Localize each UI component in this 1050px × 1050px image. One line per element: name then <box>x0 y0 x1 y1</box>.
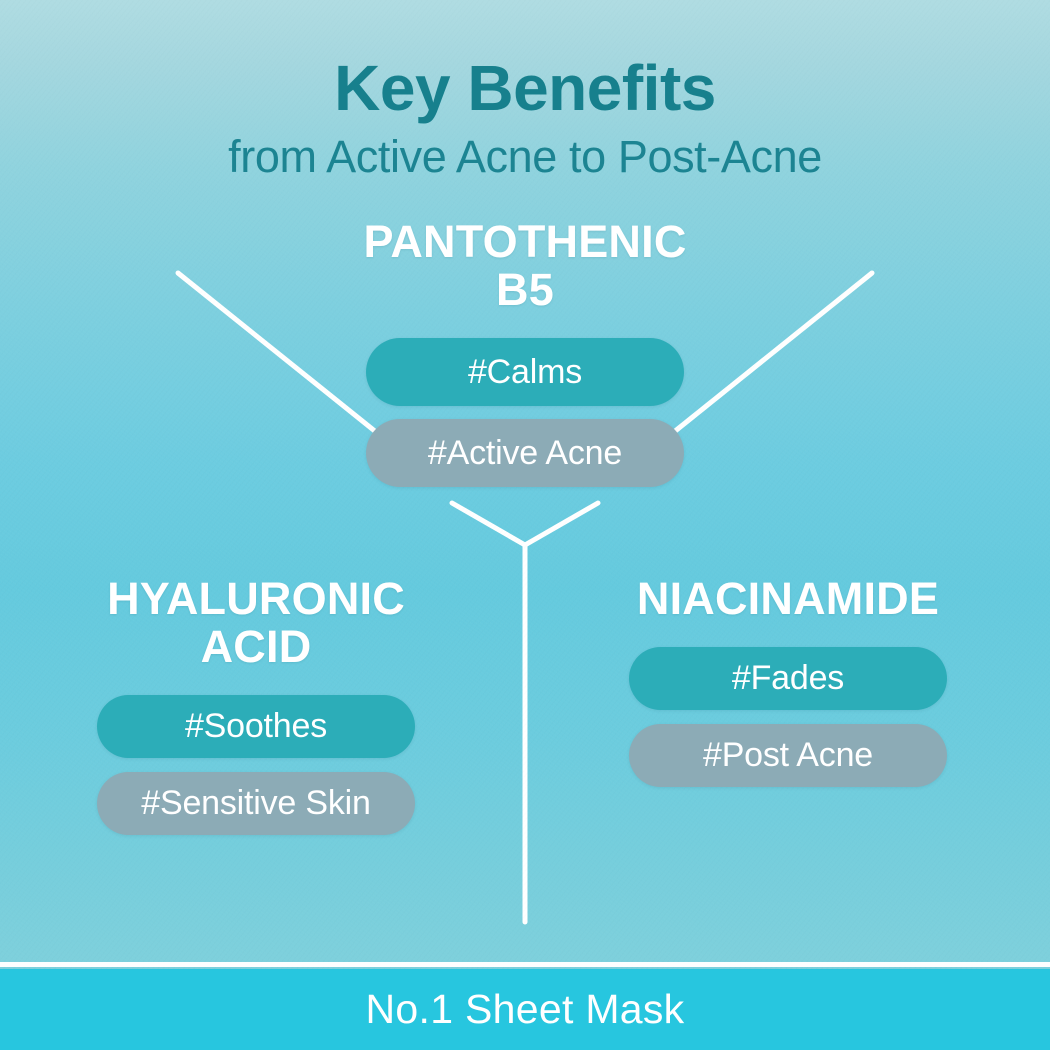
ingredient-group-hyaluronic-acid: HYALURONIC ACID #Soothes #Sensitive Skin <box>56 575 456 835</box>
ingredient-title-line1: NIACINAMIDE <box>637 573 939 624</box>
poster-canvas: Key Benefits from Active Acne to Post-Ac… <box>0 0 1050 1050</box>
benefit-pill-calms[interactable]: #Calms <box>366 338 684 406</box>
ingredient-title-line1: PANTOTHENIC <box>363 216 686 267</box>
ingredient-title-line1: HYALURONIC <box>107 573 405 624</box>
ingredient-title-line2: B5 <box>496 264 554 315</box>
benefit-pill-soothes[interactable]: #Soothes <box>97 695 415 758</box>
benefit-pill-fades[interactable]: #Fades <box>629 647 947 710</box>
pill-stack-pantothenic-b5: #Calms #Active Acne <box>275 338 775 487</box>
ingredient-group-niacinamide: NIACINAMIDE #Fades #Post Acne <box>588 575 988 787</box>
ingredient-title-hyaluronic-acid: HYALURONIC ACID <box>56 575 456 671</box>
pill-stack-hyaluronic-acid: #Soothes #Sensitive Skin <box>56 695 456 835</box>
ingredient-title-line2: ACID <box>201 621 312 672</box>
banner-label: No.1 Sheet Mask <box>366 986 685 1033</box>
page-subtitle: from Active Acne to Post-Acne <box>0 133 1050 180</box>
connector-line-fork-right <box>525 503 598 545</box>
header-block: Key Benefits from Active Acne to Post-Ac… <box>0 56 1050 181</box>
benefit-pill-active-acne[interactable]: #Active Acne <box>366 419 684 487</box>
page-title: Key Benefits <box>0 56 1050 121</box>
banner-divider-rule <box>0 962 1050 967</box>
bottom-banner: No.1 Sheet Mask <box>0 969 1050 1050</box>
benefit-pill-sensitive-skin[interactable]: #Sensitive Skin <box>97 772 415 835</box>
connector-line-fork-left <box>452 503 525 545</box>
ingredient-title-pantothenic-b5: PANTOTHENIC B5 <box>275 218 775 314</box>
ingredient-title-niacinamide: NIACINAMIDE <box>588 575 988 623</box>
pill-stack-niacinamide: #Fades #Post Acne <box>588 647 988 787</box>
benefit-pill-post-acne[interactable]: #Post Acne <box>629 724 947 787</box>
ingredient-group-pantothenic-b5: PANTOTHENIC B5 #Calms #Active Acne <box>275 218 775 487</box>
